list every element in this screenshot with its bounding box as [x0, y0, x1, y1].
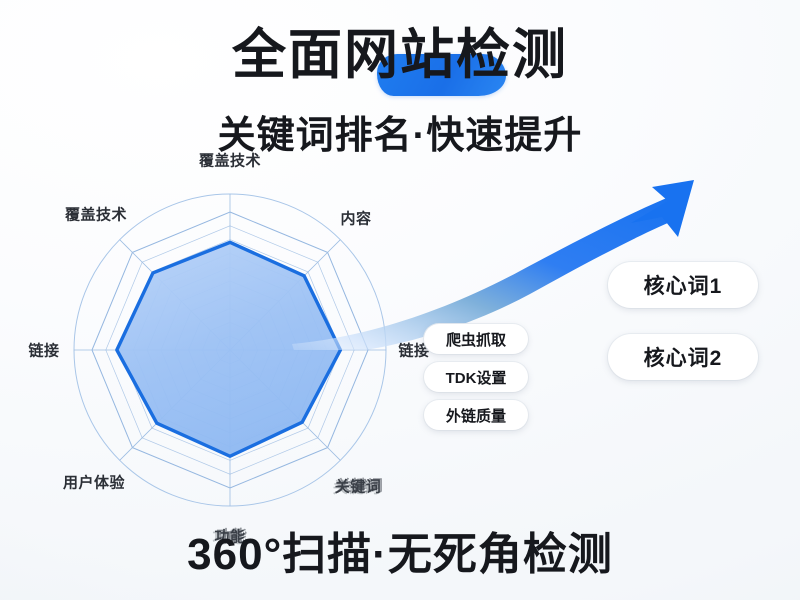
footline-text: 360°扫描·无死角检测: [0, 518, 800, 582]
arrow-head: [631, 180, 694, 237]
tag-crawl[interactable]: 爬虫抓取: [424, 324, 528, 354]
heading-block: 全面网站检测 关键词排名·快速提升: [0, 28, 800, 159]
radar-axis-label-5: 用户体验: [63, 472, 125, 493]
radar-axis-label-3: 关键词: [335, 476, 382, 497]
subtitle-text: 关键词排名·快速提升: [0, 104, 800, 159]
radar-chart: 覆盖技术内容链接关键词功能用户体验链接覆盖技术: [40, 188, 420, 518]
poster-canvas: 全面网站检测 关键词排名·快速提升 覆盖技术内容链接关键词功能用户体验链接覆盖技…: [0, 0, 800, 600]
tag-backlink[interactable]: 外链质量: [424, 400, 528, 430]
main-title: 全面网站检测: [232, 28, 568, 82]
tag-tdk[interactable]: TDK设置: [424, 362, 528, 392]
main-title-text: 全面网站检测: [232, 25, 568, 85]
radar-axis-label-6: 链接: [28, 340, 59, 361]
keyword-pill-2[interactable]: 核心词2: [608, 334, 758, 380]
radar-axis-label-1: 内容: [340, 208, 371, 229]
keyword-pill-1[interactable]: 核心词1: [608, 262, 758, 308]
radar-axis-label-7: 覆盖技术: [65, 204, 127, 225]
radar-chart-svg: [40, 188, 420, 518]
